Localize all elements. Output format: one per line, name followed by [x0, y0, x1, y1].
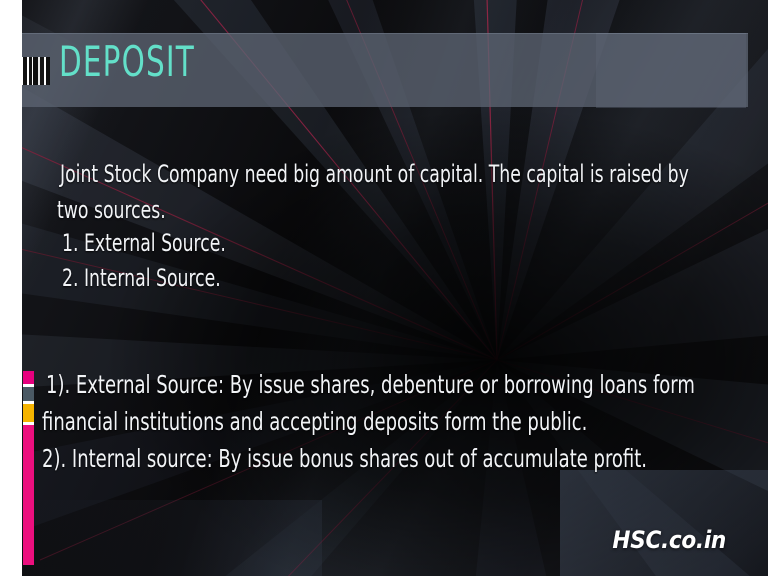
external-source-line-1: 1). External Source: By issue shares, de… — [46, 370, 695, 399]
internal-source-line-1: 2). Internal source: By issue bonus shar… — [42, 444, 647, 473]
swatch-pink-bar — [23, 425, 34, 565]
left-margin-strip — [0, 0, 22, 576]
decorative-panel-bottom-right — [560, 470, 768, 576]
presentation-slide: DEPOSIT Joint Stock Company need big amo… — [0, 0, 768, 576]
intro-paragraph-line-2: two sources. — [57, 196, 166, 224]
swatch-slate — [23, 387, 34, 401]
swatch-magenta — [23, 371, 34, 384]
external-source-line-2: financial institutions and accepting dep… — [42, 407, 587, 436]
decorative-panel-bottom-left — [22, 500, 322, 576]
swatch-gold — [23, 404, 34, 422]
page-title: DEPOSIT — [59, 41, 195, 83]
color-swatch-strip — [23, 371, 34, 565]
list-item: 2. Internal Source. — [62, 264, 221, 292]
intro-paragraph-line-1: Joint Stock Company need big amount of c… — [60, 160, 689, 188]
list-item: 1. External Source. — [62, 229, 226, 257]
barcode-bar-12 — [46, 57, 50, 85]
watermark-logo: HSC.co.in — [612, 526, 726, 554]
